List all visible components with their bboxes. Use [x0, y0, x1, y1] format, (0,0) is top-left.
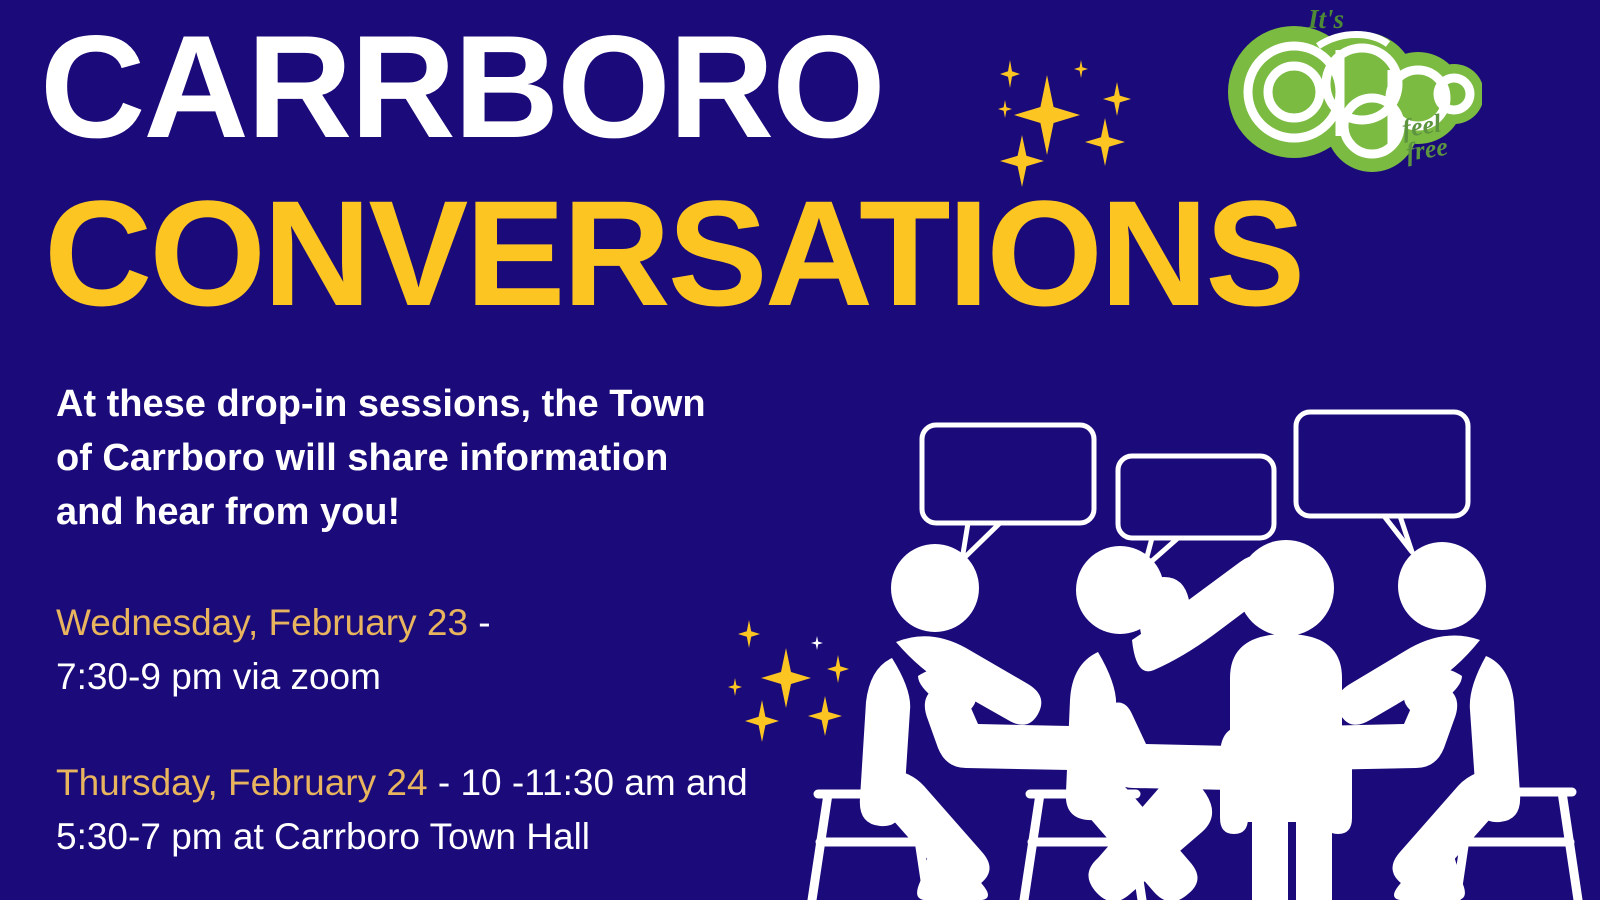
- logo-tagline-line2: free: [1404, 135, 1449, 165]
- session-separator-2: -: [428, 762, 461, 803]
- figure-seated-listener-left: [812, 544, 1092, 900]
- sparkle-icon: [1103, 82, 1131, 116]
- people-pictogram-group: [700, 390, 1600, 900]
- its-carrboro-logo: It's feel free: [1222, 6, 1482, 186]
- sparkle-icon: [1000, 60, 1020, 88]
- session-date-1: Wednesday, February 23: [56, 602, 468, 643]
- speech-bubble-middle: [1118, 456, 1274, 568]
- sparkle-icon: [1085, 118, 1125, 166]
- logo-tagline: feel free: [1401, 111, 1450, 165]
- sparkle-icon: [1074, 60, 1088, 78]
- sparkle-icon: [1014, 75, 1080, 155]
- logo-its-text: It's: [1308, 4, 1344, 35]
- figure-standing-person: [1220, 540, 1352, 900]
- sparkle-icon: [998, 100, 1012, 118]
- speech-bubble-right: [1296, 412, 1468, 552]
- poster-description: At these drop-in sessions, the Town of C…: [56, 378, 716, 540]
- conversation-illustration: [700, 390, 1600, 900]
- poster-title-primary: CARRBORO: [40, 14, 884, 160]
- session-separator-1: -: [468, 602, 491, 643]
- poster-title-secondary: CONVERSATIONS: [44, 178, 1302, 328]
- session-details-1: 7:30-9 pm via zoom: [56, 656, 381, 697]
- carrboro-conversations-poster: CARRBORO CONVERSATIONS: [0, 0, 1600, 900]
- session-date-2: Thursday, February 24: [56, 762, 428, 803]
- speech-bubble-left: [922, 425, 1094, 560]
